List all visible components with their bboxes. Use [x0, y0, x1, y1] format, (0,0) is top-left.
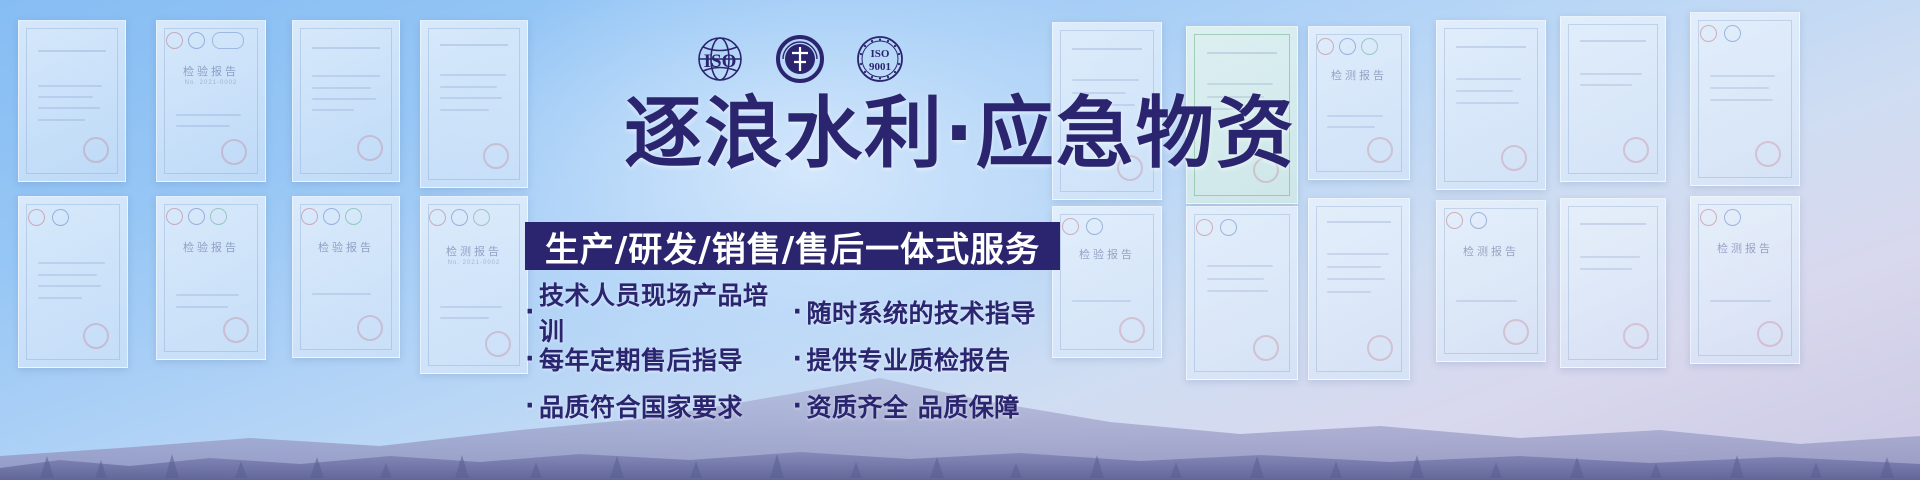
bullet-marker: ·: [525, 344, 535, 373]
bullet-marker: ·: [793, 391, 803, 420]
bullet-marker: ·: [525, 391, 535, 420]
bullet-marker: ·: [793, 297, 803, 326]
list-item-label: 提供专业质检报告: [807, 341, 1011, 377]
list-item-label: 品质符合国家要求: [539, 388, 743, 424]
svg-text:ISO: ISO: [704, 51, 737, 72]
iso-globe-badge: ISO: [690, 29, 750, 89]
quality-seal-badge: [770, 29, 830, 89]
bullet-marker: ·: [793, 344, 803, 373]
promo-banner: 检验报告 No. 2021-0002: [0, 0, 1920, 480]
list-item: · 提供专业质检报告: [793, 335, 1061, 382]
certification-badges: ISO: [690, 28, 910, 90]
list-item: · 随时系统的技术指导: [793, 288, 1061, 335]
list-item: · 资质齐全 品质保障: [793, 382, 1061, 429]
list-item: · 品质符合国家要求: [525, 382, 793, 429]
service-subtitle-bar: 生产/研发/销售/售后一体式服务: [525, 222, 1060, 270]
iso-9001-badge: ISO 9001: [850, 29, 910, 89]
banner-content: ISO: [0, 0, 1920, 480]
page-title: 逐浪水利·应急物资: [0, 95, 1920, 173]
list-item: · 技术人员现场产品培训: [525, 288, 793, 335]
list-item: · 每年定期售后指导: [525, 335, 793, 382]
list-item-label: 随时系统的技术指导: [807, 294, 1037, 330]
bullet-marker: ·: [525, 297, 535, 326]
list-item-label: 每年定期售后指导: [539, 341, 743, 377]
service-subtitle-text: 生产/研发/销售/售后一体式服务: [545, 222, 1040, 271]
feature-list: · 技术人员现场产品培训 · 随时系统的技术指导 · 每年定期售后指导 · 提供…: [525, 288, 1060, 429]
list-item-label: 资质齐全 品质保障: [807, 388, 1020, 424]
svg-text:ISO: ISO: [871, 48, 890, 60]
svg-text:9001: 9001: [869, 61, 891, 73]
